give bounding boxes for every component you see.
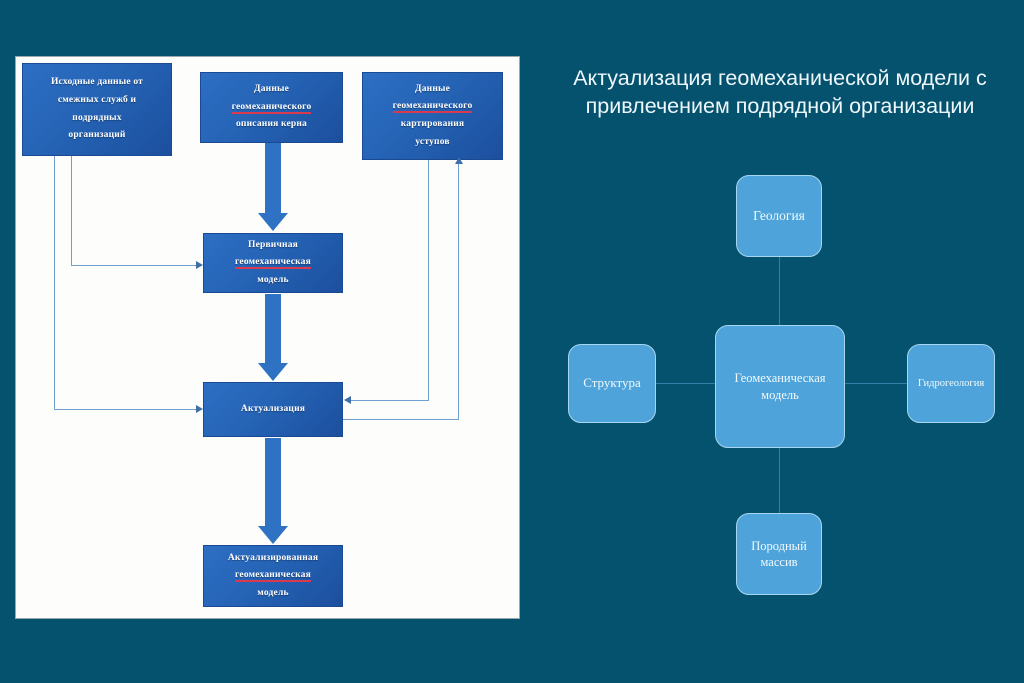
flow-box-result-line3: модель	[204, 585, 342, 603]
connector-source-to-primary-horizontal	[71, 265, 197, 266]
mindmap-node-geology-label: Геология	[753, 207, 805, 225]
mindmap-node-center-label: Геомеханическая модель	[734, 370, 825, 403]
flow-box-source-line2: смежных служб и	[23, 92, 171, 110]
page-title: Актуализация геомеханической модели с пр…	[552, 64, 1008, 121]
block-arrow-core-to-primary	[256, 143, 290, 231]
flow-box-core-line1: Данные	[201, 81, 342, 99]
mindmap-node-hydrogeology[interactable]: Гидрогеология	[907, 344, 995, 423]
link-center-to-rock-massif	[779, 446, 780, 515]
mindmap-node-center-line1: Геомеханическая	[734, 371, 825, 385]
mindmap-node-rock-massif[interactable]: Породный массив	[736, 513, 822, 595]
connector-actualization-to-bench-horizontal	[343, 419, 459, 420]
flow-box-source-line4: организаций	[23, 127, 171, 145]
mindmap-node-center-line2: модель	[761, 388, 799, 402]
connector-bench-to-actualization-vertical	[428, 160, 429, 401]
mindmap-node-massif-label: Породный массив	[751, 538, 807, 571]
flow-box-bench-line2: геомеханического	[363, 98, 502, 116]
flow-box-result-line2: геомеханическая	[204, 567, 342, 585]
mindmap-node-massif-line2: массив	[760, 555, 797, 569]
block-arrow-actualization-to-result	[256, 438, 290, 544]
mindmap-node-structure[interactable]: Структура	[568, 344, 656, 423]
flow-box-source-line3: подрядных	[23, 110, 171, 128]
flow-box-primary-line3: модель	[204, 272, 342, 290]
mindmap-node-structure-label: Структура	[583, 375, 641, 392]
flow-box-bench-line4: уступов	[363, 134, 502, 152]
flow-box-core-line2: геомеханического	[201, 99, 342, 117]
flow-box-primary-line1: Первичная	[204, 237, 342, 255]
arrowhead-into-actualization-right	[344, 396, 351, 404]
mindmap-node-hydrogeology-label: Гидрогеология	[918, 377, 984, 391]
flow-box-source-data: Исходные данные от смежных служб и подря…	[22, 63, 172, 156]
flow-box-updated-model: Актуализированная геомеханическая модель	[203, 545, 343, 607]
flow-box-source-line1: Исходные данные от	[23, 74, 171, 92]
flow-box-actualization-line1: Актуализация	[204, 401, 342, 419]
mindmap-node-geomechanical-model[interactable]: Геомеханическая модель	[715, 325, 845, 448]
flow-box-bench-line1: Данные	[363, 81, 502, 99]
connector-source-to-actualization-horizontal	[54, 409, 197, 410]
flow-box-result-line1: Актуализированная	[204, 550, 342, 568]
slide-canvas: Исходные данные от смежных служб и подря…	[0, 0, 1024, 683]
flow-box-core-description: Данные геомеханического описания керна	[200, 72, 343, 143]
flow-box-bench-mapping: Данные геомеханического картирования уст…	[362, 72, 503, 160]
connector-bench-to-actualization-horizontal	[350, 400, 429, 401]
connector-actualization-to-bench-vertical	[458, 164, 459, 420]
flow-box-primary-line2: геомеханическая	[204, 254, 342, 272]
flowchart-panel: Исходные данные от смежных служб и подря…	[16, 57, 519, 618]
link-center-to-geology	[779, 255, 780, 327]
flow-box-bench-line3: картирования	[363, 116, 502, 134]
connector-source-to-primary-vertical	[71, 156, 72, 266]
link-center-to-structure	[654, 383, 717, 384]
mindmap-node-geology[interactable]: Геология	[736, 175, 822, 257]
mindmap-node-massif-line1: Породный	[751, 539, 807, 553]
link-center-to-hydrogeology	[843, 383, 909, 384]
flow-box-core-line3: описания керна	[201, 116, 342, 134]
connector-source-to-actualization-vertical	[54, 156, 55, 410]
arrowhead-into-primary-model	[196, 261, 203, 269]
block-arrow-primary-to-actualization	[256, 294, 290, 381]
arrowhead-into-bench-box	[455, 157, 463, 164]
arrowhead-into-actualization-left	[196, 405, 203, 413]
flow-box-primary-model: Первичная геомеханическая модель	[203, 233, 343, 293]
mindmap-diagram: Геология Структура Геомеханическая модел…	[540, 150, 1024, 620]
flow-box-actualization: Актуализация	[203, 382, 343, 437]
